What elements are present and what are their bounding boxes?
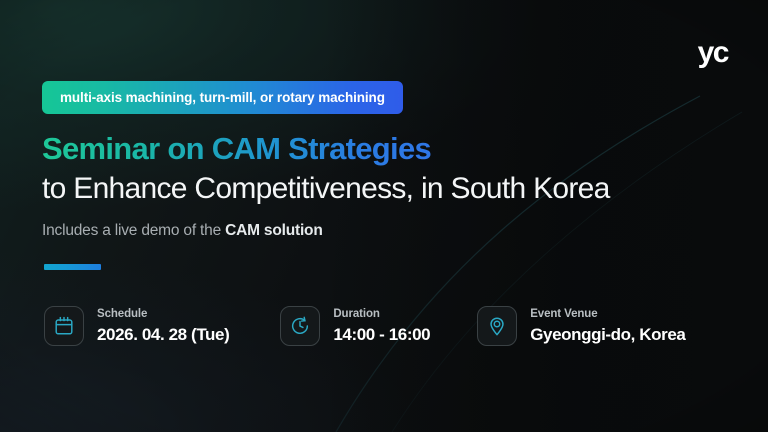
- info-cards-row: Schedule 2026. 04. 28 (Tue) Duration 14:…: [44, 306, 685, 346]
- info-card-schedule: Schedule 2026. 04. 28 (Tue): [44, 306, 229, 346]
- info-card-value: 2026. 04. 28 (Tue): [97, 325, 229, 345]
- accent-rule: [44, 264, 101, 270]
- info-card-value: 14:00 - 16:00: [333, 325, 430, 345]
- clock-icon: [280, 306, 320, 346]
- spacer: [229, 306, 280, 346]
- headline-line-2: to Enhance Competitiveness, in South Kor…: [42, 172, 732, 206]
- headline-line-1: Seminar on CAM Strategies: [42, 132, 431, 167]
- subtitle-emphasis: CAM solution: [225, 222, 322, 239]
- info-card-value: Gyeonggi-do, Korea: [530, 325, 685, 345]
- info-card-label: Schedule: [97, 308, 229, 322]
- background-vignette: [0, 0, 768, 432]
- topic-badge: multi-axis machining, turn-mill, or rota…: [42, 81, 403, 114]
- info-card-label: Duration: [333, 308, 430, 322]
- event-promo-banner: yc multi-axis machining, turn-mill, or r…: [0, 0, 768, 432]
- info-card-text: Schedule 2026. 04. 28 (Tue): [97, 308, 229, 344]
- info-card-venue: Event Venue Gyeonggi-do, Korea: [477, 306, 685, 346]
- info-card-text: Duration 14:00 - 16:00: [333, 308, 430, 344]
- subtitle-prefix: Includes a live demo of the: [42, 222, 225, 239]
- info-card-label: Event Venue: [530, 308, 685, 322]
- headline-block: Seminar on CAM Strategies to Enhance Com…: [42, 132, 732, 205]
- calendar-icon: [44, 306, 84, 346]
- info-card-text: Event Venue Gyeonggi-do, Korea: [530, 308, 685, 344]
- yc-logo[interactable]: yc: [698, 38, 728, 68]
- info-card-duration: Duration 14:00 - 16:00: [280, 306, 430, 346]
- spacer: [430, 306, 477, 346]
- map-pin-icon: [477, 306, 517, 346]
- subtitle: Includes a live demo of the CAM solution: [42, 222, 323, 240]
